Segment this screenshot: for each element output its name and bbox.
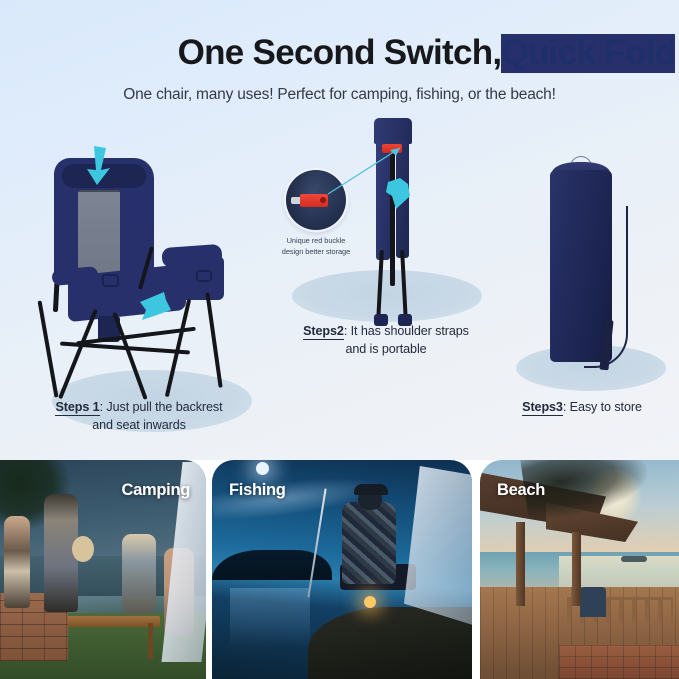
step-2-colon: : <box>344 324 347 338</box>
photo-label-camping: Camping <box>122 481 190 500</box>
step-2-illustration: Unique red buckle design better storage … <box>270 100 500 350</box>
step-1-illustration: Steps 1: Just pull the backrest and seat… <box>16 120 261 450</box>
photo-lantern-light <box>364 596 376 608</box>
photo-tiled-floor <box>559 645 679 679</box>
step-1-colon: : <box>100 400 103 414</box>
photo-water-reflection <box>230 588 310 648</box>
photo-fisherman-body <box>342 502 396 584</box>
step-1-label: Steps 1 <box>55 400 99 416</box>
step-2-text-line2: and is portable <box>266 340 506 358</box>
step-3-text-line1: Easy to store <box>570 400 642 414</box>
chair-cup-holder <box>102 274 119 287</box>
photo-table-leg <box>148 623 153 659</box>
chair-cup-holder <box>196 270 212 282</box>
photo-label-beach: Beach <box>497 481 545 500</box>
photo-person <box>4 516 30 608</box>
step-1-text-line1: Just pull the backrest <box>106 400 222 414</box>
step-3-colon: : <box>563 400 566 414</box>
callout-leader-line <box>326 146 398 196</box>
use-case-photo-beach[interactable]: Beach <box>480 460 679 679</box>
chair-leg <box>205 292 222 388</box>
use-case-photo-strip: Camping Fishing Beach <box>0 460 679 679</box>
headline-part-accent: Quick Fold <box>501 34 675 73</box>
callout-line1: Unique red buckle <box>268 236 364 247</box>
step-1-text-line2: and seat inwards <box>28 416 250 434</box>
step-2-text-line1: It has shoulder straps <box>351 324 469 338</box>
page-title: One Second Switch, Quick Fold <box>0 34 679 73</box>
step-3-illustration: Steps3: Easy to store <box>498 140 668 440</box>
photo-boat <box>621 556 647 562</box>
headline-part-primary: One Second Switch, <box>178 33 502 72</box>
photo-chair-silhouette <box>580 587 606 617</box>
use-case-photo-fishing[interactable]: Fishing <box>212 460 472 679</box>
use-case-photo-camping[interactable]: Camping <box>0 460 206 679</box>
photo-moon <box>256 462 269 475</box>
fold-direction-arrow-icon <box>84 146 114 186</box>
photo-hut-post <box>516 522 525 606</box>
hero-infographic-section: One Second Switch, Quick Fold One chair,… <box>0 0 679 460</box>
buckle-callout-caption: Unique red buckle design better storage <box>268 236 364 257</box>
fold-direction-arrow-icon <box>138 290 172 324</box>
step-3-label: Steps3 <box>522 400 563 416</box>
photo-label-fishing: Fishing <box>229 481 286 500</box>
photo-fisherman-cap <box>354 484 388 495</box>
step-2-label: Steps2 <box>303 324 344 340</box>
photo-person <box>122 534 156 614</box>
photo-drum <box>72 536 94 562</box>
chair-leg <box>38 300 59 397</box>
step-1-caption: Steps 1: Just pull the backrest and seat… <box>28 398 250 435</box>
callout-line2: design better storage <box>268 247 364 258</box>
step-2-caption: Steps2: It has shoulder straps and is po… <box>266 322 506 359</box>
photo-hut-post <box>572 532 581 606</box>
step-3-caption: Steps3: Easy to store <box>492 398 672 416</box>
